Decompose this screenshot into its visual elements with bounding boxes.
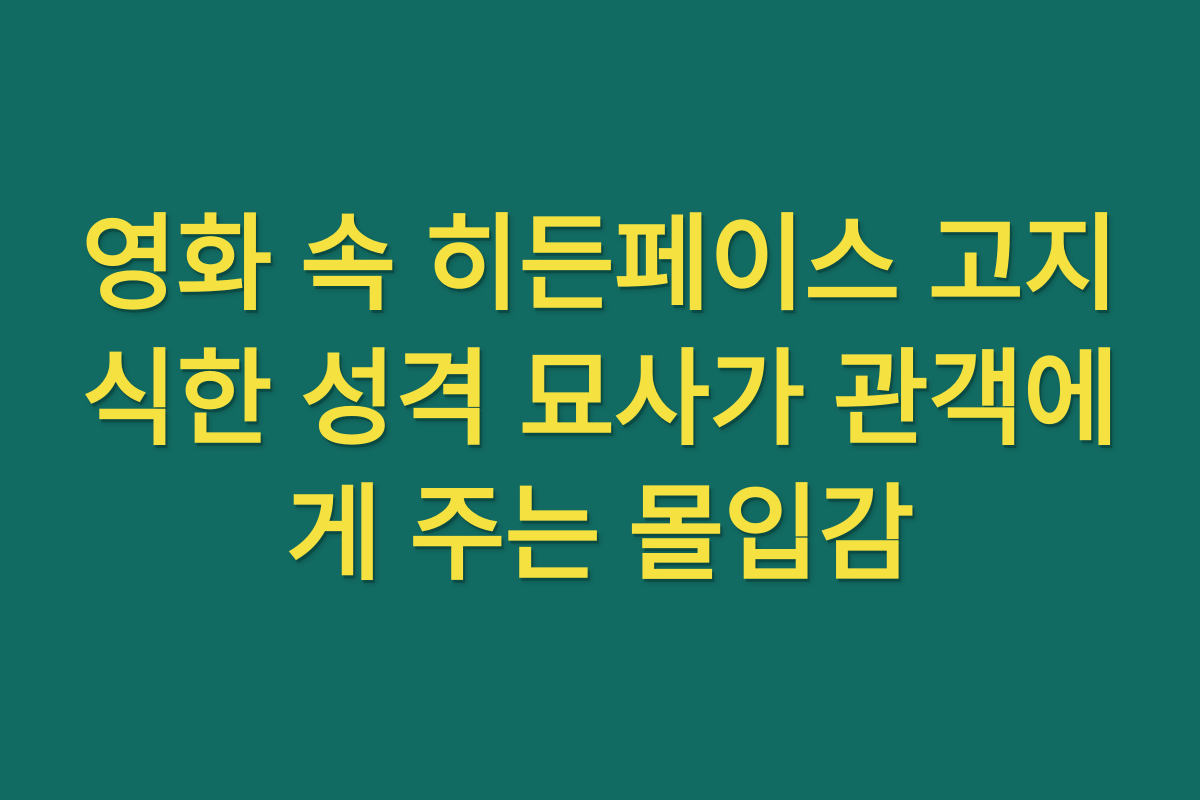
title-card-canvas: 영화 속 히든페이스 고지 식한 성격 묘사가 관객에 게 주는 몰입감 [0,0,1200,800]
headline-line-2: 식한 성격 묘사가 관객에 [48,333,1152,468]
headline-line-3: 게 주는 몰입감 [48,468,1152,603]
page-title: 영화 속 히든페이스 고지 식한 성격 묘사가 관객에 게 주는 몰입감 [48,198,1152,603]
headline-line-1: 영화 속 히든페이스 고지 [48,198,1152,333]
